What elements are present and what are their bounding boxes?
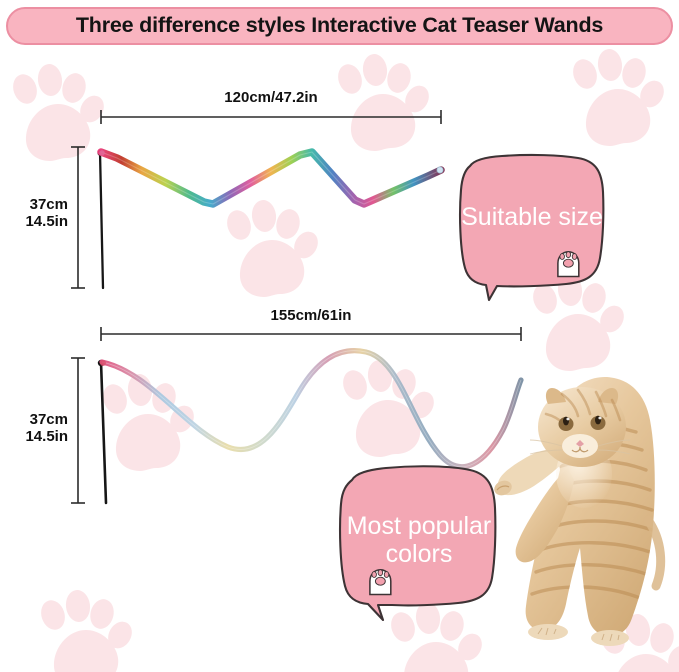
- cat-illustration: [492, 377, 661, 646]
- cat-photo: [0, 0, 679, 672]
- infographic-canvas: Three difference styles Interactive Cat …: [0, 0, 679, 672]
